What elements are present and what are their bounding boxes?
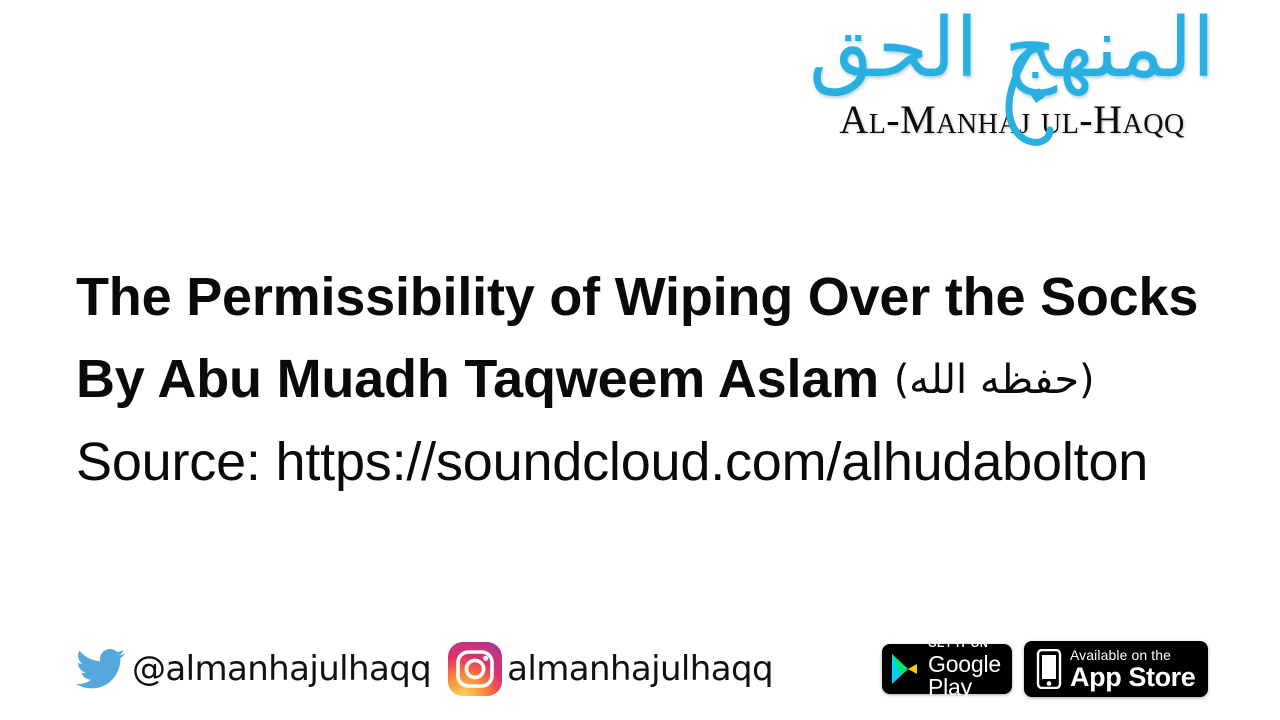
google-play-badge[interactable]: GET IT ON Google Play bbox=[882, 644, 1012, 694]
app-store-badge-text: Available on the App Store bbox=[1070, 648, 1195, 691]
brand-logo-latin-text: Al-Manhaj ul-Haqq bbox=[839, 97, 1184, 142]
brand-logo-latin-wordmark: Al-Manhaj ul-Haqq bbox=[762, 96, 1262, 143]
app-store-badge-line1: Available on the bbox=[1070, 648, 1195, 662]
google-play-badge-line2: Google Play bbox=[928, 653, 1002, 699]
instagram-handle-text[interactable]: almanhajulhaqq bbox=[507, 649, 773, 689]
lecture-speaker-line: By Abu Muadh Taqweem Aslam (حفظه الله) bbox=[76, 338, 1220, 421]
hafidhahullah-arabic: (حفظه الله) bbox=[894, 357, 1095, 403]
app-store-badge[interactable]: Available on the App Store bbox=[1024, 641, 1208, 697]
twitter-handle-text[interactable]: @almanhajulhaqq bbox=[132, 649, 431, 689]
app-store-badges: GET IT ON Google Play Available on the A… bbox=[882, 641, 1208, 697]
brand-logo-arabic-calligraphy: المنهج الحق bbox=[762, 6, 1262, 108]
lecture-speaker-name: By Abu Muadh Taqweem Aslam bbox=[76, 349, 894, 409]
lecture-source-url: Source: https://soundcloud.com/alhudabol… bbox=[76, 421, 1220, 503]
iphone-icon bbox=[1036, 649, 1062, 689]
google-play-badge-line1: GET IT ON bbox=[928, 639, 1002, 650]
instagram-camera-icon[interactable] bbox=[447, 641, 503, 697]
app-store-badge-line2: App Store bbox=[1070, 664, 1195, 691]
google-play-badge-text: GET IT ON Google Play bbox=[928, 639, 1002, 699]
instagram-handle-group[interactable]: almanhajulhaqq bbox=[431, 636, 773, 702]
twitter-handle-group[interactable]: @almanhajulhaqq bbox=[76, 636, 431, 702]
slide-title-block: The Permissibility of Wiping Over the So… bbox=[76, 256, 1220, 503]
twitter-bird-icon[interactable] bbox=[76, 648, 126, 690]
brand-logo: المنهج الحق Al-Manhaj ul-Haqq bbox=[762, 4, 1262, 164]
lecture-title: The Permissibility of Wiping Over the So… bbox=[76, 256, 1220, 338]
google-play-triangle-icon bbox=[890, 653, 920, 685]
footer-bar: @almanhajulhaqq almanhajulhaqq bbox=[76, 636, 1208, 702]
